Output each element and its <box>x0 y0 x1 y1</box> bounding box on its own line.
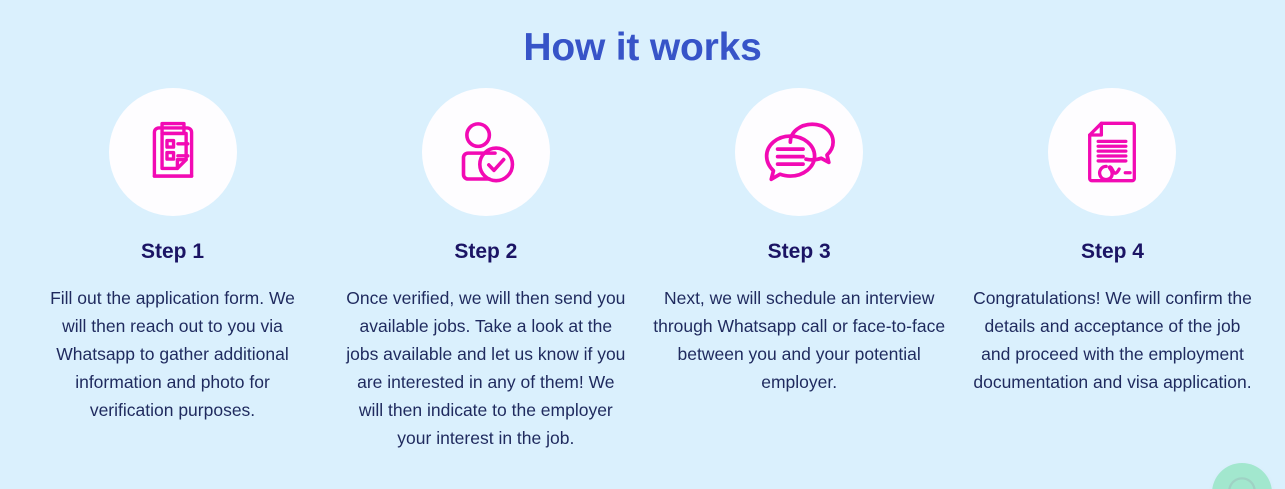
how-it-works-section: How it works <box>0 0 1285 489</box>
step-4-icon-circle <box>1048 88 1176 216</box>
step-2-icon-circle <box>422 88 550 216</box>
step-3-description: Next, we will schedule an interview thro… <box>653 284 945 396</box>
step-1-icon-circle <box>109 88 237 216</box>
steps-row: Step 1 Fill out the application form. We… <box>0 88 1285 452</box>
clipboard-checklist-icon <box>138 117 208 187</box>
step-1-description: Fill out the application form. We will t… <box>39 284 307 424</box>
page-title: How it works <box>0 22 1285 74</box>
step-3-icon-circle <box>735 88 863 216</box>
step-4-description: Congratulations! We will confirm the det… <box>972 284 1252 396</box>
step-card-4: Step 4 Congratulations! We will confirm … <box>964 88 1261 396</box>
step-card-2: Step 2 Once verified, we will then send … <box>337 88 634 452</box>
chat-bubbles-icon <box>762 115 836 189</box>
step-3-title: Step 3 <box>768 238 831 266</box>
step-4-title: Step 4 <box>1081 238 1144 266</box>
step-card-1: Step 1 Fill out the application form. We… <box>24 88 321 424</box>
step-2-title: Step 2 <box>454 238 517 266</box>
signed-document-icon <box>1078 118 1146 186</box>
whatsapp-chat-button[interactable] <box>1212 463 1272 489</box>
whatsapp-icon <box>1225 474 1259 489</box>
step-1-title: Step 1 <box>141 238 204 266</box>
verified-user-icon <box>450 116 522 188</box>
step-card-3: Step 3 Next, we will schedule an intervi… <box>651 88 948 396</box>
step-2-description: Once verified, we will then send you ava… <box>345 284 627 452</box>
